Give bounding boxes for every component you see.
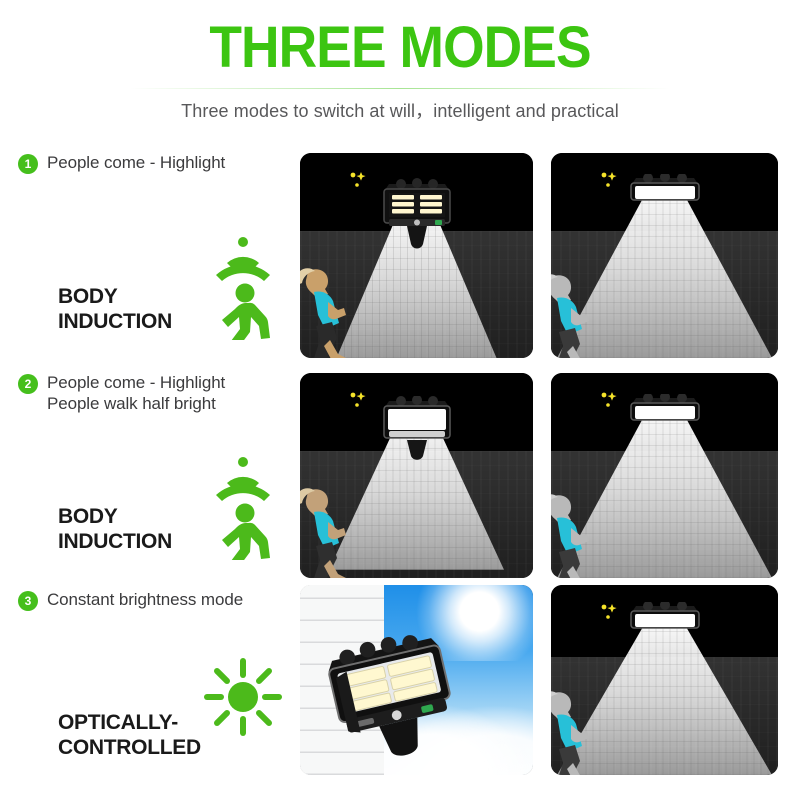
mode-1-number-badge: 1 (18, 154, 38, 174)
mode-1-info: 1 People come - Highlight BODY INDUCTION (18, 148, 290, 358)
mode-3-number-badge: 3 (18, 591, 38, 611)
solar-lamp (624, 602, 706, 636)
motion-sensor-walking-person-icon (200, 456, 286, 560)
mode-2-photo-right (551, 373, 778, 578)
mode-row-1: 1 People come - Highlight BODY INDUCTION (0, 148, 800, 358)
header: THREE MODES Three modes to switch at wil… (0, 0, 800, 140)
crescent-moon-icon (567, 166, 621, 214)
jogging-woman (300, 486, 372, 578)
mode-2-name: BODY INDUCTION (58, 504, 208, 554)
daylight-scene (300, 585, 533, 775)
mode-1-photo-right (551, 153, 778, 358)
mode-3-headline: Constant brightness mode (47, 589, 243, 610)
mode-2-name-group: BODY INDUCTION (58, 450, 290, 560)
mode-3-info: 3 Constant brightness mode OPTICALLY- CO… (18, 585, 290, 780)
mode-3-name-group: OPTICALLY- CONTROLLED (58, 652, 290, 762)
jogging-woman (551, 689, 615, 775)
night-scene (300, 373, 533, 578)
mode-2-number-badge: 2 (18, 374, 38, 394)
mode-2-info: 2 People come - Highlight People walk ha… (18, 368, 290, 578)
crescent-moon-icon (316, 386, 370, 434)
mode-row-3: 3 Constant brightness mode OPTICALLY- CO… (0, 585, 800, 780)
night-scene (551, 153, 778, 358)
solar-lamp (375, 178, 459, 252)
page-subtitle: Three modes to switch at will，intelligen… (0, 99, 800, 123)
mode-1-headline-group: 1 People come - Highlight (18, 152, 290, 174)
jogging-woman (551, 272, 615, 358)
jogging-woman (300, 266, 372, 358)
night-scene (551, 585, 778, 775)
night-scene (300, 153, 533, 358)
mode-1-photo-left (300, 153, 533, 358)
infographic-page: THREE MODES Three modes to switch at wil… (0, 0, 800, 800)
solar-lamp (624, 394, 706, 428)
solar-lamp (624, 174, 706, 208)
mode-1-name: BODY INDUCTION (58, 284, 208, 334)
page-title: THREE MODES (32, 17, 768, 79)
mode-2-photo-left (300, 373, 533, 578)
mode-1-name-group: BODY INDUCTION (58, 230, 290, 340)
mode-2-headline-group: 2 People come - Highlight People walk ha… (18, 372, 290, 414)
title-divider (130, 88, 670, 89)
sun-icon (204, 658, 282, 736)
crescent-moon-icon (567, 386, 621, 434)
night-scene (551, 373, 778, 578)
mode-3-photo-left (300, 585, 533, 775)
mode-2-headline: People come - Highlight People walk half… (47, 372, 225, 414)
solar-lamp (375, 396, 459, 462)
mode-3-headline-group: 3 Constant brightness mode (18, 589, 290, 611)
jogging-woman (551, 492, 615, 578)
mode-3-name: OPTICALLY- CONTROLLED (58, 710, 228, 760)
mode-1-headline: People come - Highlight (47, 152, 225, 173)
crescent-moon-icon (316, 166, 370, 214)
motion-sensor-walking-person-icon (200, 236, 286, 340)
mode-row-2: 2 People come - Highlight People walk ha… (0, 368, 800, 578)
mode-3-photo-right (551, 585, 778, 775)
solar-lamp (319, 623, 463, 760)
crescent-moon-icon (567, 598, 621, 646)
